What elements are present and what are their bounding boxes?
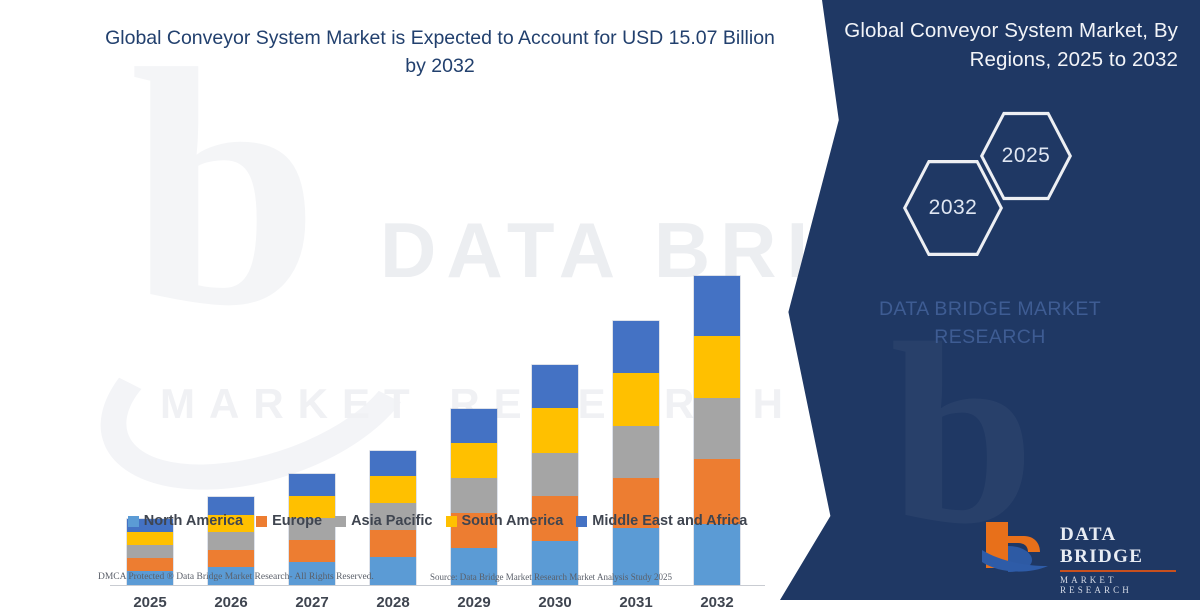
- legend-item-south-america[interactable]: South America: [446, 513, 564, 529]
- x-tick-2029: 2029: [434, 594, 514, 611]
- legend-item-asia-pacific[interactable]: Asia Pacific: [335, 513, 432, 529]
- brand-name-line1: DATA BRIDGE MARKET: [780, 295, 1200, 323]
- chart-legend: North AmericaEuropeAsia PacificSouth Ame…: [110, 513, 765, 529]
- company-logo: DATA BRIDGE MARKET RESEARCH: [978, 516, 1178, 578]
- footer-source: Source: Data Bridge Market Research Mark…: [430, 572, 672, 582]
- segment-asia-pacific-2026: [208, 532, 254, 550]
- segment-europe-2026: [208, 550, 254, 567]
- legend-item-north-america[interactable]: North America: [128, 513, 243, 529]
- x-tick-2026: 2026: [191, 594, 271, 611]
- x-axis-line: [110, 585, 765, 586]
- legend-item-europe[interactable]: Europe: [256, 513, 322, 529]
- bar-2027: [289, 474, 335, 585]
- bar-2032: [694, 276, 740, 585]
- segment-asia-pacific-2031: [613, 426, 659, 478]
- x-tick-2031: 2031: [596, 594, 676, 611]
- segment-south-america-2031: [613, 373, 659, 426]
- legend-label: Asia Pacific: [351, 513, 432, 529]
- logo-divider: [1060, 570, 1176, 572]
- segment-south-america-2032: [694, 336, 740, 398]
- segment-europe-2027: [289, 540, 335, 562]
- legend-swatch-icon: [256, 516, 267, 527]
- bar-2029: [451, 409, 497, 585]
- hexagon-year-group: 20322025: [875, 90, 1115, 270]
- logo-text: DATA BRIDGE MARKET RESEARCH: [1060, 524, 1178, 595]
- segment-europe-2028: [370, 530, 416, 557]
- x-tick-2030: 2030: [515, 594, 595, 611]
- legend-label: Middle East and Africa: [592, 513, 747, 529]
- hexagon-label: 2025: [980, 144, 1072, 168]
- segment-south-america-2029: [451, 443, 497, 478]
- footer-copyright: DMCA Protected ® Data Bridge Market Rese…: [98, 572, 374, 582]
- brand-name-line2: RESEARCH: [780, 323, 1200, 351]
- bar-2031: [613, 321, 659, 585]
- logo-tagline: MARKET RESEARCH: [1060, 575, 1178, 595]
- x-tick-2028: 2028: [353, 594, 433, 611]
- segment-middle-east-and-africa-2029: [451, 409, 497, 443]
- legend-swatch-icon: [128, 516, 139, 527]
- segment-north-america-2032: [694, 524, 740, 585]
- panel-watermark-mark: b: [890, 330, 1035, 538]
- segment-asia-pacific-2029: [451, 478, 497, 513]
- x-tick-2032: 2032: [677, 594, 757, 611]
- logo-mark-icon: [978, 516, 1056, 576]
- segment-south-america-2028: [370, 476, 416, 503]
- hexagon-2025: 2025: [980, 110, 1072, 202]
- hexagon-2032: 2032: [903, 158, 1003, 258]
- hexagon-label: 2032: [903, 196, 1003, 220]
- segment-middle-east-and-africa-2028: [370, 451, 416, 476]
- legend-label: South America: [462, 513, 564, 529]
- segment-middle-east-and-africa-2030: [532, 365, 578, 408]
- stacked-bar-chart: 20252026202720282029203020312032: [110, 120, 765, 465]
- page-title: Global Conveyor System Market is Expecte…: [95, 24, 785, 81]
- legend-swatch-icon: [335, 516, 346, 527]
- legend-swatch-icon: [576, 516, 587, 527]
- segment-south-america-2030: [532, 408, 578, 453]
- x-tick-2027: 2027: [272, 594, 352, 611]
- panel-title: Global Conveyor System Market, By Region…: [810, 16, 1178, 74]
- brand-panel: b Global Conveyor System Market, By Regi…: [780, 0, 1200, 600]
- legend-label: North America: [144, 513, 243, 529]
- segment-middle-east-and-africa-2031: [613, 321, 659, 373]
- segment-europe-2025: [127, 558, 173, 571]
- segment-south-america-2025: [127, 532, 173, 545]
- legend-label: Europe: [272, 513, 322, 529]
- legend-swatch-icon: [446, 516, 457, 527]
- segment-asia-pacific-2030: [532, 453, 578, 496]
- segment-middle-east-and-africa-2027: [289, 474, 335, 496]
- segment-middle-east-and-africa-2032: [694, 276, 740, 336]
- brand-name: DATA BRIDGE MARKET RESEARCH: [780, 295, 1200, 352]
- segment-asia-pacific-2032: [694, 398, 740, 459]
- x-tick-2025: 2025: [110, 594, 190, 611]
- segment-asia-pacific-2025: [127, 545, 173, 558]
- segment-north-america-2028: [370, 557, 416, 585]
- logo-name: DATA BRIDGE: [1060, 524, 1178, 568]
- legend-item-middle-east-and-africa[interactable]: Middle East and Africa: [576, 513, 747, 529]
- bar-2030: [532, 365, 578, 585]
